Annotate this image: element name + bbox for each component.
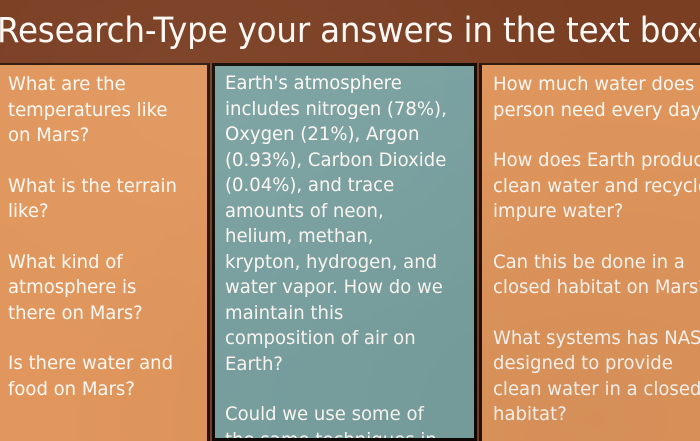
- question-item: Can this be done in a closed habitat on …: [493, 250, 700, 301]
- text-box-water-content: How much water does a person need every …: [482, 72, 700, 428]
- slide-canvas: Research-Type your answers in the text b…: [0, 0, 700, 441]
- question-item: How much water does a person need every …: [493, 72, 700, 123]
- text-box-atmosphere-composition[interactable]: Earth's atmosphere includes nitrogen (78…: [212, 63, 477, 441]
- slide-header-band: Research-Type your answers in the text b…: [0, 0, 700, 63]
- question-item: Earth's atmosphere includes nitrogen (78…: [225, 71, 452, 377]
- question-item: What is the terrain like?: [8, 174, 189, 225]
- question-item: Could we use some of the same techniques…: [225, 402, 452, 441]
- question-item: What are the temperatures like on Mars?: [8, 72, 189, 149]
- question-item: Is there water and food on Mars?: [8, 351, 189, 402]
- page-title: Research-Type your answers in the text b…: [0, 8, 657, 54]
- text-box-row: What are the temperatures like on Mars? …: [0, 63, 700, 441]
- text-box-mars-environment-content: What are the temperatures like on Mars? …: [0, 72, 207, 402]
- question-item: What kind of atmosphere is there on Mars…: [8, 250, 189, 327]
- text-box-mars-environment[interactable]: What are the temperatures like on Mars? …: [0, 63, 210, 441]
- question-item: How does Earth produce clean water and r…: [493, 148, 700, 225]
- text-box-atmosphere-composition-content: Earth's atmosphere includes nitrogen (78…: [215, 71, 474, 441]
- question-item: What systems has NASA designed to provid…: [493, 326, 700, 428]
- text-box-water[interactable]: How much water does a person need every …: [479, 63, 700, 441]
